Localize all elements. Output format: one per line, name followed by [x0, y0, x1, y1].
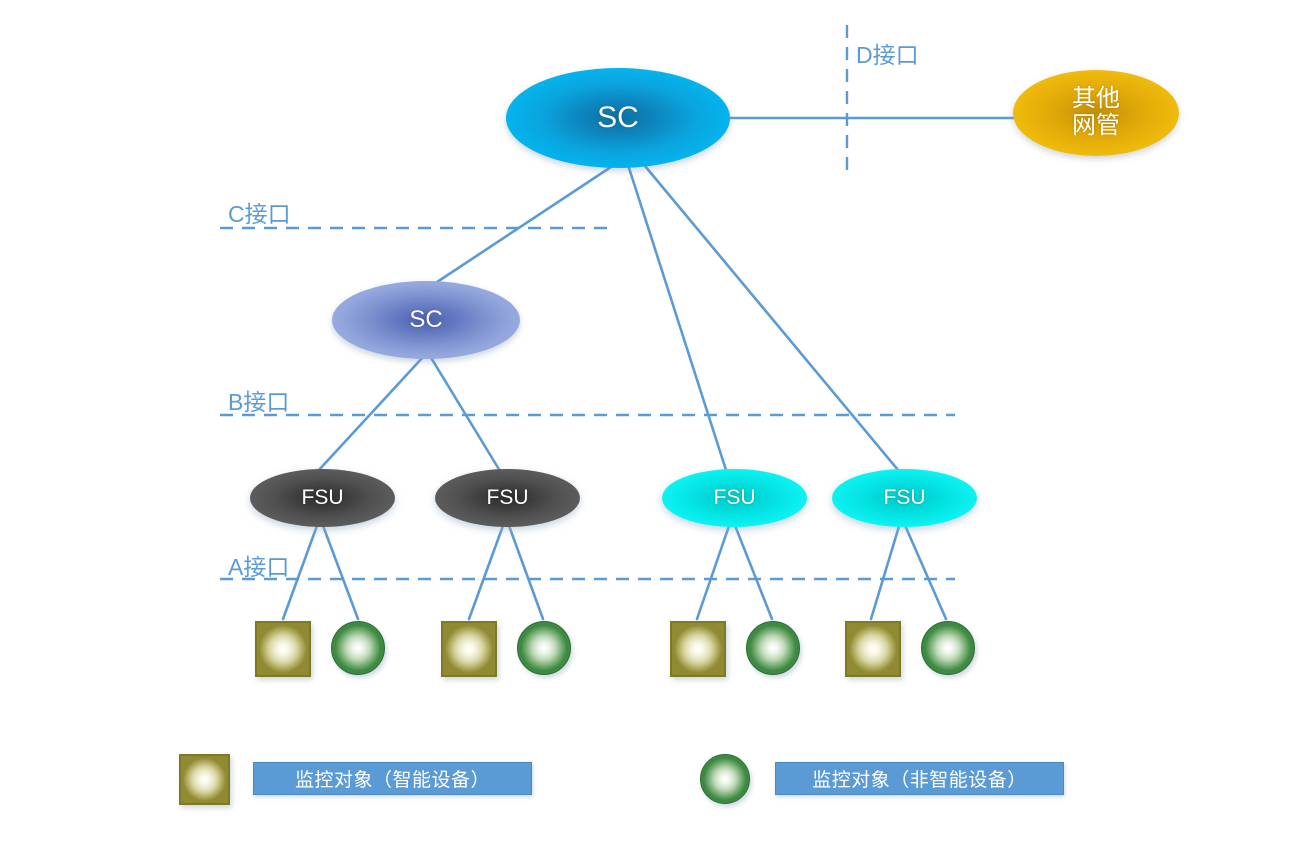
node-fsu-3-label: FSU: [714, 486, 756, 510]
edge-fsu3-to-dev6: [734, 523, 772, 619]
intelligent-device-icon: [179, 754, 230, 805]
edge-sc_mid-to-fsu1: [318, 356, 424, 471]
edge-fsu4-to-dev7: [871, 523, 900, 619]
interface-label-d: D接口: [856, 36, 919, 70]
node-sc-top[interactable]: SC: [506, 68, 730, 168]
edge-fsu2-to-dev3: [469, 523, 504, 619]
intelligent-device-3[interactable]: [441, 621, 497, 677]
edge-sc_top-to-fsu3: [629, 168, 726, 470]
edge-sc_top-to-sc_mid: [428, 165, 614, 288]
node-other-nms[interactable]: 其他 网管: [1013, 70, 1179, 156]
node-fsu-1[interactable]: FSU: [250, 469, 395, 527]
edge-fsu3-to-dev5: [697, 523, 730, 619]
non-intelligent-device-6[interactable]: [746, 621, 800, 675]
node-sc-mid[interactable]: SC: [332, 281, 520, 359]
node-fsu-2-label: FSU: [487, 486, 529, 510]
non-intelligent-device-icon: [700, 754, 750, 804]
node-sc-top-label: SC: [597, 101, 639, 135]
node-fsu-3[interactable]: FSU: [662, 469, 807, 527]
intelligent-device-7[interactable]: [845, 621, 901, 677]
interface-label-b: B接口: [228, 383, 289, 417]
intelligent-device-5[interactable]: [670, 621, 726, 677]
node-fsu-4[interactable]: FSU: [832, 469, 977, 527]
edge-fsu1-to-dev2: [322, 523, 358, 619]
node-sc-mid-label: SC: [409, 307, 442, 334]
edge-fsu4-to-dev8: [904, 523, 946, 619]
legend-label-intelligent: 监控对象（智能设备）: [253, 762, 532, 795]
legend-label-non-intelligent: 监控对象（非智能设备）: [775, 762, 1064, 795]
node-fsu-4-label: FSU: [884, 486, 926, 510]
edge-sc_mid-to-fsu2: [430, 356, 500, 471]
non-intelligent-device-8[interactable]: [921, 621, 975, 675]
interface-label-c: C接口: [228, 195, 291, 229]
node-fsu-1-label: FSU: [302, 486, 344, 510]
intelligent-device-1[interactable]: [255, 621, 311, 677]
non-intelligent-device-4[interactable]: [517, 621, 571, 675]
edge-sc_top-to-fsu4: [645, 166, 898, 470]
interface-label-a: A接口: [228, 548, 289, 582]
node-fsu-2[interactable]: FSU: [435, 469, 580, 527]
non-intelligent-device-2[interactable]: [331, 621, 385, 675]
edge-fsu2-to-dev4: [508, 523, 543, 619]
node-other-nms-label: 其他 网管: [1072, 86, 1120, 140]
diagram-canvas: D接口 C接口 B接口 A接口 SC 其他 网管 SC FSU FSU FSU …: [0, 0, 1300, 842]
